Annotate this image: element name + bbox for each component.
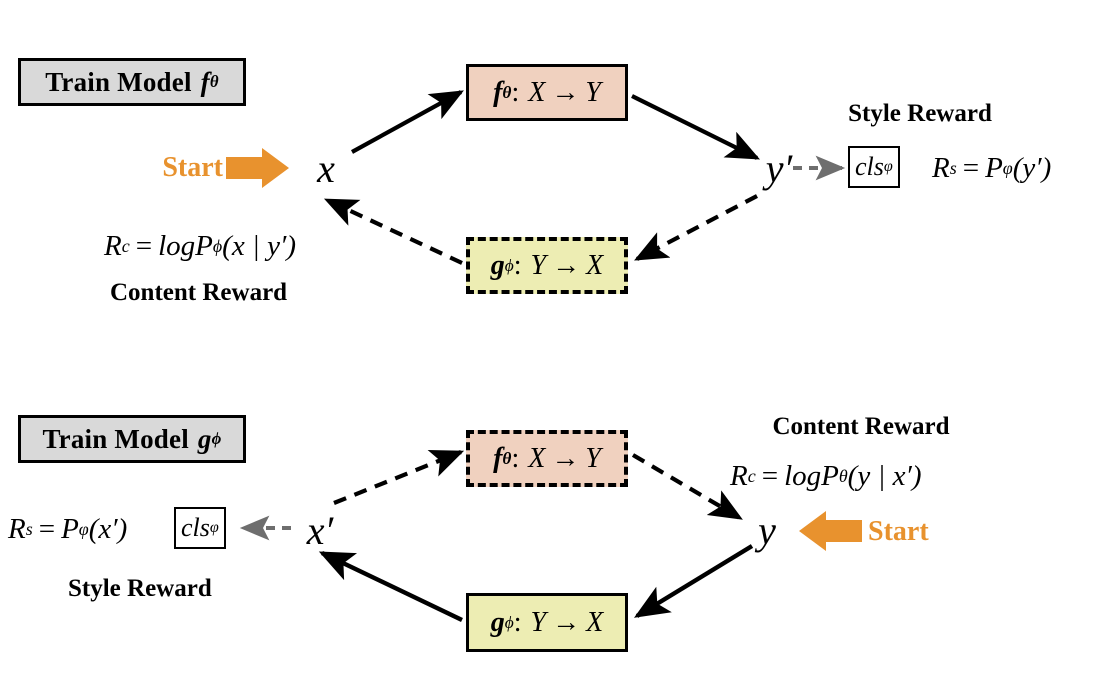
content-arg-top: (x | y′)	[222, 230, 296, 263]
f-theta-symbol-bottom: f	[493, 443, 502, 475]
content-eq-top: =	[130, 230, 158, 263]
start-arrow-bottom-icon	[799, 511, 862, 551]
style-P-sub-bottom: φ	[79, 519, 89, 540]
variable-x-prime-bottom: x′	[292, 502, 348, 558]
style-reward-caption-bottom: Style Reward	[68, 573, 308, 605]
cls-symbol-bottom: cls	[181, 513, 210, 543]
model-box-f-theta-top: fθ:X→Y	[466, 64, 628, 121]
diagram-canvas: Train Model fθ Start x fθ:X→Y y′ Style R…	[0, 0, 1094, 674]
start-arrow-top-icon	[226, 148, 289, 188]
edge-g-phi-to-x-prime	[322, 553, 462, 620]
style-R-sub-top: s	[950, 158, 957, 179]
f-theta-arrow-top: →	[545, 77, 585, 109]
style-eq-bottom: =	[33, 513, 61, 546]
y-prime-mark-top: ′	[784, 145, 793, 192]
style-P-bottom: P	[61, 513, 79, 546]
chip-label-top: Train Model	[45, 67, 191, 98]
model-box-g-phi-bottom: gϕ:Y→X	[466, 593, 628, 652]
y-prime-base-top: y	[766, 145, 784, 192]
f-theta-domain-bottom: X	[519, 443, 545, 475]
edge-g-phi-to-x	[327, 200, 462, 263]
style-P-sub-top: φ	[1003, 158, 1013, 179]
content-reward-caption-bottom: Content Reward	[736, 411, 986, 443]
cls-box-bottom: clsφ	[174, 507, 226, 549]
content-R-bottom: R	[730, 460, 748, 493]
g-phi-symbol-bottom: g	[491, 607, 505, 639]
f-theta-arrow-bottom: →	[545, 443, 585, 475]
g-phi-arrow-bottom: →	[546, 607, 586, 639]
content-eq-bottom: =	[756, 460, 784, 493]
f-theta-subscript-top: θ	[502, 83, 511, 103]
style-reward-formula-bottom: Rs=Pφ(x′)	[8, 508, 127, 550]
chip-symbol-bottom: g	[189, 424, 212, 455]
content-log-top: log	[158, 230, 195, 263]
content-R-sub-bottom: c	[748, 466, 756, 487]
g-phi-subscript-top: ϕ	[505, 256, 514, 276]
cls-subscript-top: φ	[884, 158, 893, 176]
style-reward-caption-top: Style Reward	[810, 98, 1030, 130]
start-label-top: Start	[131, 150, 223, 186]
edge-f-theta-to-y-prime	[632, 96, 757, 158]
x-prime-base-bottom: x	[307, 507, 325, 554]
g-phi-separator-top: :	[514, 250, 522, 282]
style-reward-formula-top: Rs=Pφ(y′)	[932, 148, 1051, 188]
style-R-top: R	[932, 152, 950, 185]
style-arg-bottom: (x′)	[89, 513, 128, 546]
train-model-f-theta-chip: Train Model fθ	[18, 58, 246, 106]
edge-y-prime-to-g-phi	[637, 196, 757, 259]
style-R-bottom: R	[8, 513, 26, 546]
chip-subscript-bottom: ϕ	[212, 429, 222, 449]
variable-y-bottom: y	[744, 504, 790, 556]
g-phi-codomain-top: X	[586, 250, 603, 282]
f-theta-codomain-bottom: Y	[585, 443, 601, 475]
cls-symbol-top: cls	[855, 152, 884, 182]
content-reward-formula-bottom: Rc=logPθ(y | x′)	[730, 455, 922, 497]
chip-subscript-top: θ	[210, 72, 219, 92]
content-R-sub-top: c	[122, 236, 130, 257]
f-theta-symbol-top: f	[493, 77, 502, 109]
g-phi-subscript-bottom: ϕ	[505, 613, 514, 633]
cls-subscript-bottom: φ	[210, 519, 219, 537]
content-P-bottom: P	[821, 460, 839, 493]
f-theta-subscript-bottom: θ	[502, 449, 511, 469]
chip-label-bottom: Train Model	[42, 424, 188, 455]
content-reward-formula-top: Rc=logPϕ(x | y′)	[104, 225, 296, 267]
style-eq-top: =	[957, 152, 985, 185]
f-theta-domain-top: X	[519, 77, 545, 109]
content-R-top: R	[104, 230, 122, 263]
model-box-f-theta-bottom: fθ:X→Y	[466, 430, 628, 487]
g-phi-codomain-bottom: X	[586, 607, 603, 639]
f-theta-separator-bottom: :	[511, 443, 519, 475]
variable-y-prime-top: y′	[752, 140, 806, 196]
content-arg-bottom: (y | x′)	[848, 460, 922, 493]
start-label-bottom: Start	[868, 514, 968, 550]
model-box-g-phi-top: gϕ:Y→X	[466, 237, 628, 294]
f-theta-codomain-top: Y	[585, 77, 601, 109]
style-P-top: P	[985, 152, 1003, 185]
g-phi-domain-bottom: Y	[522, 607, 547, 639]
chip-symbol-top: f	[192, 67, 210, 98]
g-phi-separator-bottom: :	[514, 607, 522, 639]
g-phi-domain-top: Y	[522, 250, 547, 282]
content-log-bottom: log	[784, 460, 821, 493]
train-model-g-phi-chip: Train Model gϕ	[18, 415, 246, 463]
x-prime-mark-bottom: ′	[325, 507, 334, 554]
content-reward-caption-top: Content Reward	[110, 277, 350, 309]
content-P-top: P	[195, 230, 213, 263]
variable-x-top: x	[303, 142, 349, 194]
g-phi-symbol-top: g	[491, 250, 505, 282]
edge-f-theta-to-y	[633, 455, 740, 518]
content-P-sub-bottom: θ	[839, 466, 848, 487]
edge-y-to-g-phi	[637, 546, 752, 616]
g-phi-arrow-top: →	[546, 250, 586, 282]
cls-box-top: clsφ	[848, 146, 900, 188]
edge-x-to-f-theta	[352, 92, 461, 152]
style-R-sub-bottom: s	[26, 519, 33, 540]
f-theta-separator-top: :	[511, 77, 519, 109]
edge-x-prime-to-f-theta	[334, 452, 461, 503]
content-P-sub-top: ϕ	[213, 236, 222, 257]
style-arg-top: (y′)	[1013, 152, 1052, 185]
